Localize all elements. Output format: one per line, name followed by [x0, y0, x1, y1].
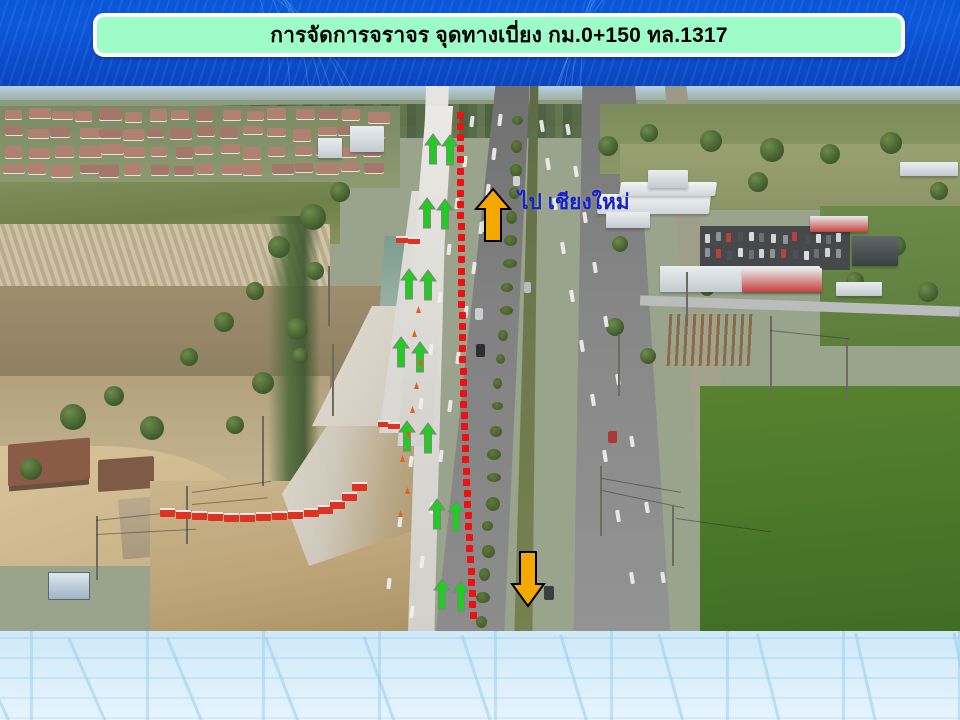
taper-line-dot	[465, 512, 472, 519]
parked-car	[814, 249, 819, 258]
tree	[700, 130, 722, 152]
taper-line-dot	[458, 234, 465, 241]
tree	[880, 132, 902, 154]
tree	[292, 348, 308, 364]
tree	[246, 282, 264, 300]
taper-line-dot	[460, 368, 467, 375]
house-roof	[364, 163, 384, 173]
median-shrub	[498, 330, 508, 341]
median-shrub	[476, 592, 490, 603]
house-roof	[197, 164, 214, 174]
median-shrub	[500, 306, 513, 315]
house-roof	[319, 110, 338, 119]
house-roof	[293, 129, 311, 141]
taper-line-dot	[464, 490, 471, 497]
taper-line-dot	[468, 568, 475, 575]
house-roof	[243, 147, 261, 159]
utility-pole	[770, 316, 772, 396]
parked-car	[825, 248, 830, 257]
arrow-up-icon	[441, 134, 459, 166]
arrow-up-icon	[392, 336, 410, 368]
commercial-building-red	[810, 216, 868, 232]
tree	[214, 312, 234, 332]
taper-line-dot	[458, 256, 465, 263]
taper-line-dot	[458, 279, 465, 286]
arrow-up-icon	[474, 187, 512, 243]
parked-car	[738, 248, 743, 257]
tree	[20, 458, 42, 480]
tree	[268, 236, 290, 258]
parked-car	[738, 232, 743, 241]
water-barrier	[352, 482, 367, 491]
water-barrier	[342, 492, 357, 501]
footer-grid-line	[378, 631, 381, 720]
house-roof	[125, 112, 142, 122]
taper-line-dot	[460, 379, 467, 386]
house-roof	[75, 111, 92, 121]
taper-line-dot	[457, 123, 464, 130]
tree	[60, 404, 86, 430]
house-roof	[3, 165, 25, 173]
taper-line-dot	[467, 556, 474, 563]
median-shrub	[501, 283, 513, 292]
median-shrub	[493, 378, 502, 389]
footer-grid-line	[30, 631, 33, 720]
footer-grid-line	[0, 639, 57, 720]
parked-car	[836, 249, 841, 258]
parked-car	[770, 249, 775, 258]
taper-line-dot	[462, 434, 469, 441]
taper-line-dot	[457, 168, 464, 175]
water-barrier	[396, 236, 408, 243]
water-barrier	[240, 513, 255, 522]
footer-grid-line	[0, 657, 960, 659]
house-roof	[221, 144, 240, 153]
tree	[286, 318, 308, 340]
utility-pole	[686, 272, 688, 326]
house-roof	[80, 165, 99, 173]
tree	[252, 372, 274, 394]
water-barrier	[408, 237, 420, 244]
house-roof	[52, 111, 73, 119]
taper-line-dot	[458, 301, 465, 308]
house-roof	[5, 146, 22, 158]
taper-line-dot	[459, 323, 466, 330]
taper-line-dot	[463, 468, 470, 475]
taper-line-dot	[470, 612, 477, 619]
house-roof	[99, 108, 122, 120]
tree	[612, 236, 628, 252]
arrow-up-icon	[419, 422, 437, 454]
arrow-up-icon	[447, 500, 465, 532]
median-shrub	[476, 616, 487, 628]
house-roof	[272, 164, 294, 174]
house-roof	[51, 165, 73, 177]
house-roof	[5, 110, 22, 119]
tree	[640, 348, 656, 364]
tree	[598, 136, 618, 156]
lane-dash	[447, 400, 452, 412]
parked-car	[749, 250, 754, 259]
lane-dash	[446, 244, 451, 255]
arrow-down-icon	[510, 550, 546, 608]
house-roof	[28, 163, 46, 174]
parked-car	[759, 249, 764, 258]
house-roof	[342, 109, 360, 120]
utility-pole	[96, 516, 98, 580]
footer-grid-line	[68, 638, 151, 720]
house-roof	[296, 109, 315, 119]
footer-grid-line	[610, 631, 613, 720]
parked-car	[781, 249, 786, 258]
utility-pole	[600, 466, 602, 536]
parked-car	[749, 232, 754, 241]
water-barrier	[256, 512, 271, 521]
taper-line-dot	[459, 334, 466, 341]
slide-root: การจัดการจราจร จุดทางเบี่ยง กม.0+150 ทล.…	[0, 0, 960, 720]
arrow-up-icon	[411, 341, 429, 373]
house-roof	[124, 163, 141, 175]
median-shrub	[486, 497, 500, 511]
taper-line-dot	[469, 601, 476, 608]
parked-car	[705, 234, 710, 243]
taper-line-dot	[458, 245, 465, 252]
house-roof	[243, 126, 263, 134]
rural-house	[98, 456, 154, 492]
parked-car	[826, 235, 831, 244]
median-shrub	[487, 473, 501, 482]
parked-car	[716, 232, 721, 241]
gas-station-building	[606, 212, 650, 228]
vehicle	[524, 282, 531, 293]
house-roof	[150, 109, 167, 121]
building-dark	[852, 236, 898, 266]
taper-line-dot	[459, 345, 466, 352]
footer-grid-line	[0, 637, 960, 639]
parked-car	[816, 234, 821, 243]
house-roof	[268, 147, 285, 156]
vehicle	[608, 431, 617, 443]
house-roof	[29, 108, 51, 118]
parked-car	[705, 248, 710, 257]
page-title: การจัดการจราจร จุดทางเบี่ยง กม.0+150 ทล.…	[270, 25, 728, 46]
house-roof	[99, 129, 121, 138]
arrow-up-icon	[436, 198, 454, 230]
house-roof	[195, 146, 213, 154]
building	[318, 138, 342, 158]
house-roof	[316, 163, 339, 174]
building	[350, 126, 384, 152]
house-roof	[123, 129, 144, 140]
taper-line-dot	[466, 545, 473, 552]
house-roof	[170, 128, 192, 139]
taper-line-dot	[460, 390, 467, 397]
building	[900, 162, 958, 176]
slide-title-box: การจัดการจราจร จุดทางเบี่ยง กม.0+150 ทล.…	[93, 13, 905, 57]
water-barrier	[160, 508, 175, 517]
footer-grid-line	[0, 677, 960, 679]
water-barrier	[304, 508, 319, 517]
tree	[748, 172, 768, 192]
utility-pole	[846, 336, 848, 400]
taper-line-dot	[457, 212, 464, 219]
taper-line-dot	[458, 290, 465, 297]
vehicle	[475, 308, 483, 320]
parked-car	[726, 233, 731, 242]
parked-car	[804, 251, 809, 260]
tree	[330, 182, 350, 202]
house-roof	[295, 146, 312, 155]
house-roof	[151, 165, 169, 175]
taper-line-dot	[457, 179, 464, 186]
median-shrub	[479, 568, 490, 581]
parked-car	[836, 233, 841, 242]
house-roof	[196, 109, 213, 121]
taper-line-dot	[465, 523, 472, 530]
house-roof	[147, 129, 164, 137]
rural-house	[8, 437, 90, 486]
house-roof	[28, 129, 49, 138]
median-shrub	[487, 449, 501, 460]
arrow-up-icon	[428, 498, 446, 530]
canopy-small	[836, 282, 882, 296]
taper-line-dot	[460, 401, 467, 408]
house-roof	[174, 166, 194, 175]
median-shrub	[490, 426, 502, 437]
house-roof	[99, 165, 119, 177]
water-barrier	[176, 510, 191, 519]
aerial-photo: ไป เชียงใหม่ ไป อ.แม่ออน	[0, 86, 960, 631]
house-roof	[243, 163, 262, 175]
house-roof	[341, 162, 360, 171]
house-roof	[79, 146, 102, 157]
tree	[140, 416, 164, 440]
footer-grid-line	[146, 631, 149, 720]
taper-line-dot	[461, 412, 468, 419]
lane-dash	[573, 166, 579, 177]
taper-line-dot	[457, 112, 464, 119]
house-roof	[368, 112, 390, 123]
parked-car	[771, 234, 776, 243]
utility-pole	[328, 266, 330, 326]
house-roof	[267, 108, 286, 119]
house-roof	[222, 164, 242, 174]
house-roof	[101, 144, 124, 154]
lane-dash	[569, 290, 575, 302]
parked-car	[727, 251, 732, 260]
direction-label-north: ไป เชียงใหม่	[518, 192, 630, 213]
tree	[760, 138, 784, 162]
footer-grid-line	[494, 631, 497, 720]
house-roof	[55, 146, 74, 157]
median-shrub	[492, 402, 503, 410]
footer-grid-line	[0, 697, 960, 699]
lane-dash	[438, 450, 443, 462]
house-roof	[29, 148, 50, 158]
parked-car	[783, 235, 788, 244]
lane-dash	[545, 158, 551, 170]
taper-line-dot	[466, 534, 473, 541]
house-roof	[295, 163, 313, 172]
tree	[930, 182, 948, 200]
house-roof	[197, 126, 215, 136]
rice-field	[700, 386, 960, 631]
median-shrub	[503, 259, 517, 268]
taper-line-dot	[459, 356, 466, 363]
tree	[104, 386, 124, 406]
median-shrub	[511, 140, 522, 153]
water-barrier	[192, 511, 207, 520]
utility-pole	[332, 344, 334, 416]
taper-line-dot	[457, 190, 464, 197]
parked-car	[759, 233, 764, 242]
footer-grid-line	[726, 631, 729, 720]
utility-pole	[262, 416, 264, 486]
taper-line-dot	[461, 423, 468, 430]
footer-grid-line	[0, 717, 960, 719]
house-roof	[220, 127, 238, 138]
arrow-up-icon	[418, 197, 436, 229]
house-roof	[318, 127, 337, 135]
taper-line-dot	[459, 312, 466, 319]
parked-car	[792, 232, 797, 241]
water-barrier	[224, 513, 239, 522]
water-barrier	[288, 510, 303, 519]
water-barrier	[330, 500, 345, 509]
arrow-up-icon	[433, 578, 451, 610]
billboard-frame	[667, 314, 754, 366]
house-roof	[247, 111, 264, 120]
parked-car	[805, 235, 810, 244]
house-roof	[50, 127, 70, 137]
taper-line-dot	[458, 268, 465, 275]
water-barrier	[272, 511, 287, 520]
tree	[180, 348, 198, 366]
footer-grid-line	[842, 631, 845, 720]
arrow-up-icon	[424, 133, 442, 165]
arrow-up-icon	[400, 268, 418, 300]
house-roof	[267, 128, 286, 136]
taper-line-dot	[462, 456, 469, 463]
footer-grid-line	[262, 631, 265, 720]
tree	[640, 124, 658, 142]
building	[648, 170, 688, 188]
house-roof	[223, 110, 241, 120]
taper-line-dot	[458, 223, 465, 230]
tree	[606, 318, 624, 336]
water-barrier	[208, 512, 223, 521]
taper-line-dot	[464, 501, 471, 508]
tree	[226, 416, 244, 434]
tree	[306, 262, 324, 280]
vehicle	[513, 176, 520, 186]
median-shrub	[512, 116, 523, 125]
lane-dash	[560, 242, 566, 254]
tree	[918, 282, 938, 302]
tree	[820, 144, 840, 164]
water-barrier	[388, 422, 400, 429]
vehicle	[476, 344, 485, 357]
commercial-building-red	[742, 268, 822, 292]
house-roof	[171, 110, 189, 119]
median-shrub	[496, 354, 505, 364]
tree	[300, 204, 326, 230]
roadside-sign	[48, 572, 90, 600]
utility-pole	[618, 334, 620, 396]
taper-line-dot	[463, 479, 470, 486]
taper-line-dot	[457, 201, 464, 208]
house-roof	[176, 147, 193, 158]
house-roof	[151, 147, 167, 156]
parked-car	[716, 249, 721, 258]
footer-band	[0, 631, 960, 720]
parked-car	[793, 250, 798, 259]
house-roof	[5, 126, 23, 135]
arrow-up-icon	[419, 269, 437, 301]
median-shrub	[482, 521, 493, 531]
arrow-up-icon	[452, 580, 470, 612]
median-shrub	[482, 545, 495, 558]
house-roof	[124, 147, 145, 157]
utility-pole	[672, 506, 674, 566]
taper-line-dot	[462, 445, 469, 452]
